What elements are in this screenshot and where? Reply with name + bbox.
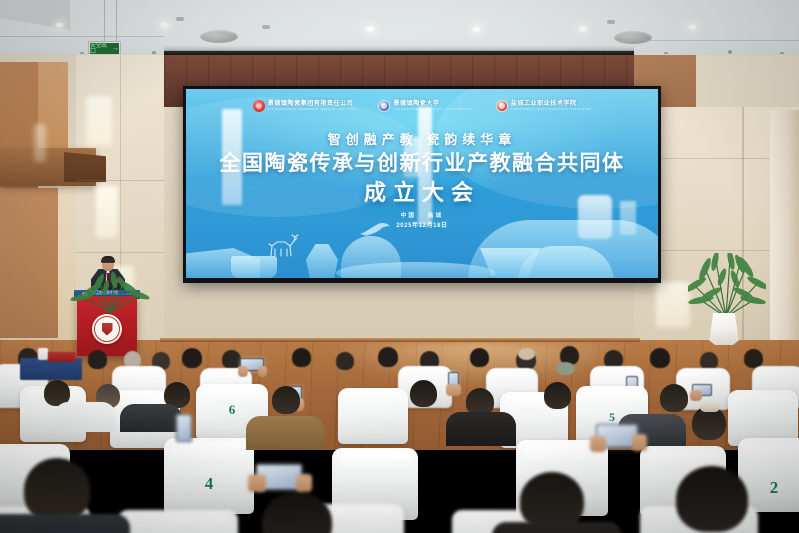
potted-plant-right bbox=[688, 253, 766, 345]
audience-head bbox=[660, 384, 688, 412]
sign-hanger-rod bbox=[116, 0, 117, 41]
hair-clip bbox=[700, 402, 720, 412]
right-wall-upper bbox=[696, 55, 799, 110]
audience-head-hat bbox=[518, 348, 535, 360]
ceiling-vent bbox=[176, 17, 184, 21]
window-light-patch bbox=[34, 124, 46, 162]
hand bbox=[590, 436, 606, 452]
ceramic-jar-illustration bbox=[306, 244, 338, 278]
audience-head bbox=[222, 350, 241, 369]
ceiling-speaker bbox=[614, 31, 652, 44]
screen-reflection bbox=[578, 195, 612, 239]
ceiling-seam bbox=[634, 40, 799, 41]
exit-sign-face: 安全出口 → bbox=[90, 43, 119, 54]
led-screen-frame: 景德镇陶瓷集团有限责任公司 JINGDEZHEN CERAMIC GROUP C… bbox=[183, 86, 661, 283]
chair bbox=[338, 388, 408, 444]
deer-silhouette-icon bbox=[261, 232, 301, 258]
potted-plant-left bbox=[70, 262, 150, 312]
screen-reflection bbox=[404, 137, 420, 177]
audience-shoulders bbox=[446, 412, 516, 446]
ceramic-cup-illustration bbox=[231, 256, 277, 278]
ceiling-vent bbox=[262, 25, 270, 29]
hand bbox=[258, 366, 267, 377]
left-wood-panel-c bbox=[0, 188, 58, 338]
plant-pot bbox=[708, 313, 740, 345]
ceiling-downlight bbox=[472, 26, 481, 32]
audience-head-foreground bbox=[24, 458, 90, 522]
emblem-shield bbox=[102, 323, 113, 336]
screen-reflection bbox=[620, 201, 636, 235]
ceiling-downlight bbox=[366, 26, 375, 32]
ceiling-downlight bbox=[578, 26, 587, 32]
ceiling-vent bbox=[607, 20, 615, 24]
emblem-ring bbox=[94, 316, 120, 342]
ceramic-university-crest-icon bbox=[378, 100, 390, 112]
red-folder bbox=[48, 352, 76, 362]
chair: 4 bbox=[164, 438, 254, 514]
ceiling-downlight bbox=[688, 24, 697, 30]
ceiling-downlight bbox=[55, 22, 64, 28]
audience-head bbox=[88, 350, 107, 369]
hand bbox=[632, 434, 647, 451]
led-screen: 景德镇陶瓷集团有限责任公司 JINGDEZHEN CERAMIC GROUP C… bbox=[186, 89, 658, 278]
audience-head bbox=[272, 386, 300, 414]
audience-head bbox=[410, 380, 437, 407]
sign-hanger-rod bbox=[104, 0, 105, 41]
audience-head bbox=[292, 348, 311, 367]
wave-shape-illustration bbox=[336, 262, 496, 278]
hand bbox=[238, 366, 248, 377]
screen-reflection bbox=[418, 107, 432, 225]
ceiling-beam-shadow bbox=[164, 51, 634, 55]
ceiling-downlight bbox=[160, 22, 169, 28]
audience-head-foreground bbox=[262, 492, 332, 533]
audience-head bbox=[182, 348, 202, 368]
hand bbox=[446, 384, 461, 396]
ceiling-seam bbox=[0, 36, 164, 37]
sponsor-logo-3: 盐城工业职业技术学院 YANCHENG POLYTECHNIC COLLEGE bbox=[496, 100, 592, 112]
sponsor-logo-1: 景德镇陶瓷集团有限责任公司 JINGDEZHEN CERAMIC GROUP C… bbox=[253, 100, 357, 112]
audience-area: 6 6 5 4 3 2 bbox=[0, 346, 799, 533]
window-light-patch bbox=[96, 186, 118, 238]
window-light-patch bbox=[656, 282, 690, 328]
right-pillar bbox=[770, 110, 799, 370]
sponsor-3-name-en: YANCHENG POLYTECHNIC COLLEGE bbox=[511, 108, 592, 111]
sponsor-2-name-en: JINGDEZHEN CERAMIC UNIVERSITY bbox=[393, 108, 473, 111]
audience-head bbox=[378, 347, 398, 367]
seat-number: 4 bbox=[164, 474, 254, 494]
audience-shoulders bbox=[246, 416, 324, 450]
podium-emblem-icon bbox=[92, 314, 122, 344]
polytechnic-crest-icon bbox=[496, 100, 508, 112]
exit-sign-label: 安全出口 bbox=[90, 43, 110, 55]
ceramic-group-seal-icon bbox=[253, 100, 265, 112]
ceiling-speaker bbox=[200, 30, 238, 43]
paper-cup bbox=[38, 348, 48, 360]
chair bbox=[118, 510, 238, 533]
audience-shoulders bbox=[54, 402, 116, 432]
audience-head bbox=[336, 352, 354, 370]
exit-arrow-icon: → bbox=[112, 45, 119, 52]
audience-head bbox=[544, 382, 571, 409]
left-wall-beam-shadow bbox=[64, 152, 106, 182]
hand bbox=[690, 390, 702, 401]
audience-head-hat bbox=[556, 362, 575, 375]
hand bbox=[248, 474, 266, 492]
screenshot-root: 安全出口 → bbox=[0, 0, 799, 533]
hand bbox=[296, 474, 312, 492]
audience-head bbox=[650, 348, 670, 368]
screen-reflection bbox=[222, 109, 242, 205]
stage-edge bbox=[160, 338, 640, 342]
audience-shoulders bbox=[492, 522, 622, 533]
window-light-patch bbox=[86, 96, 112, 146]
sponsor-1-name-en: JINGDEZHEN CERAMIC GROUP CO.,LTD bbox=[268, 108, 357, 111]
audience-head bbox=[470, 348, 489, 367]
audience-shoulders bbox=[120, 404, 182, 432]
smartphone bbox=[176, 414, 192, 442]
audience-shoulders bbox=[0, 514, 130, 533]
audience-head-foreground bbox=[676, 466, 748, 532]
